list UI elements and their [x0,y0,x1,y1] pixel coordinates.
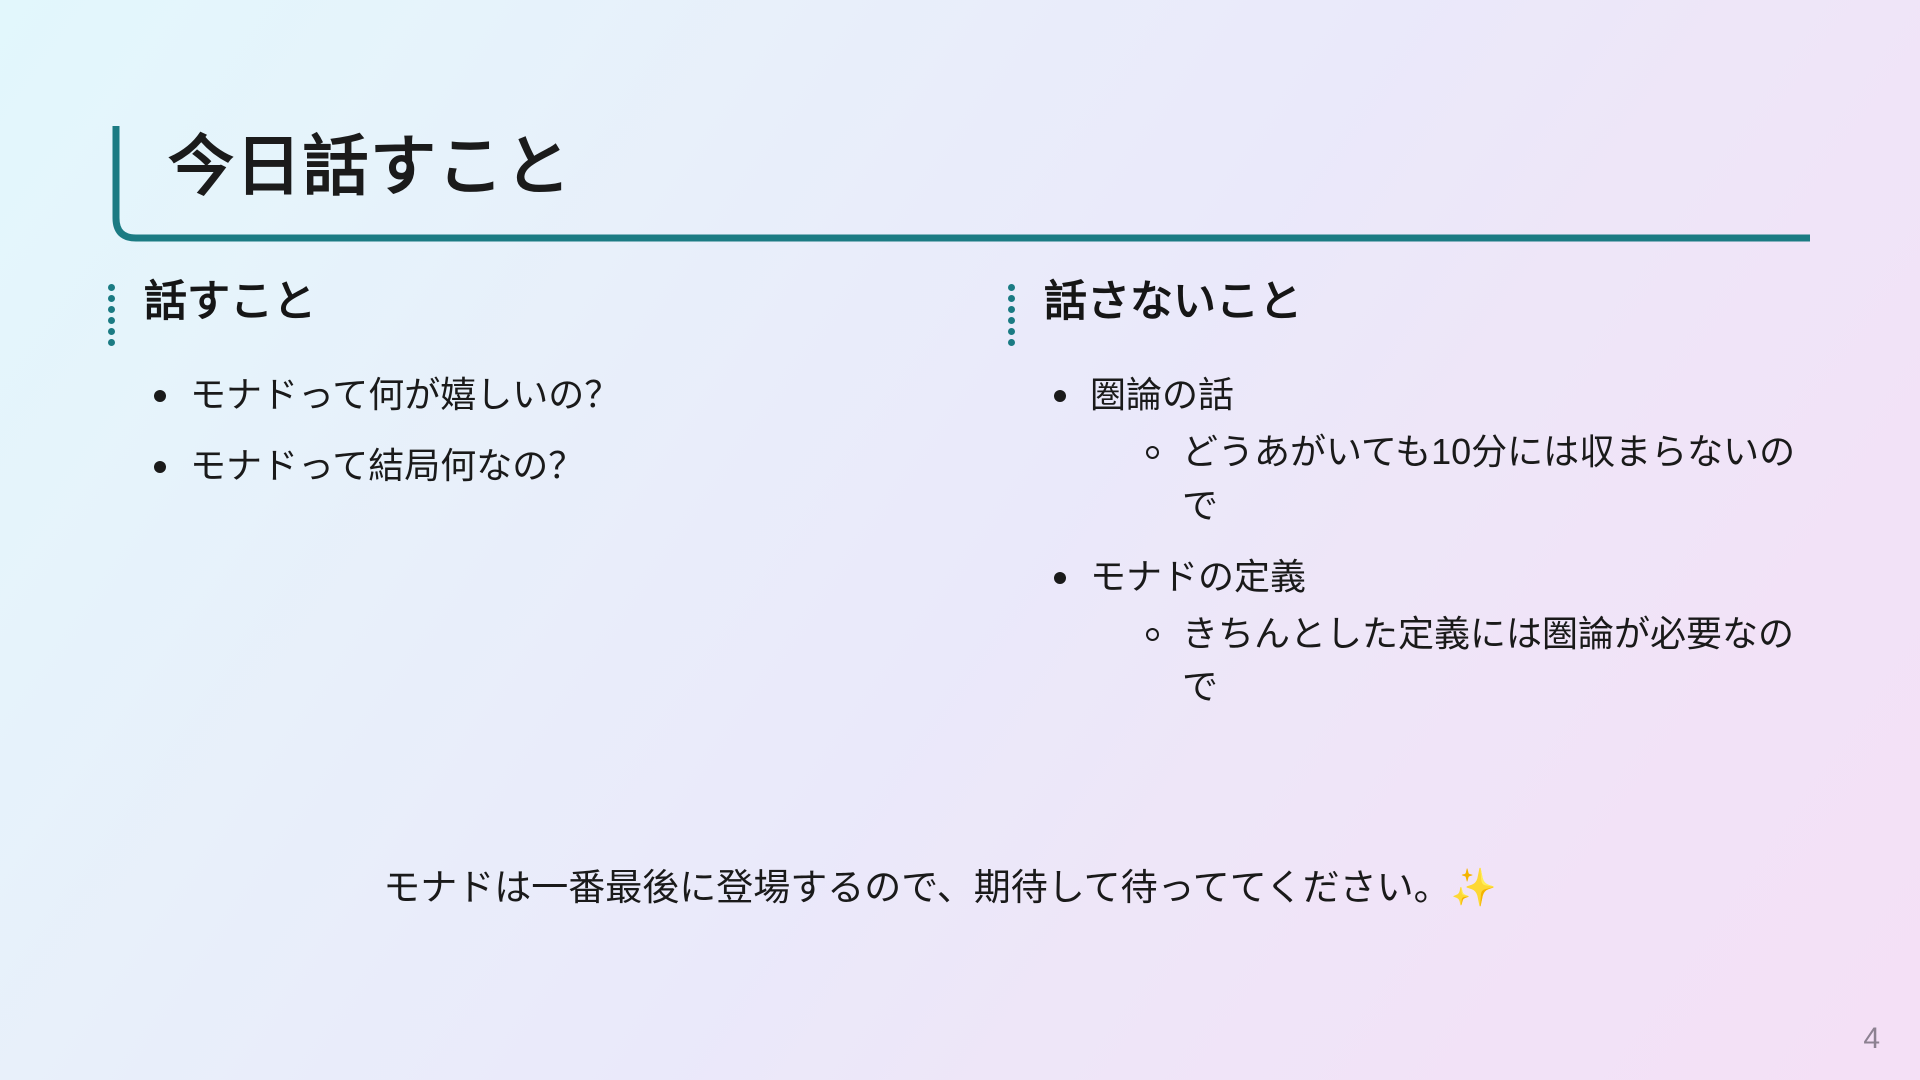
list-item-label: 圏論の話 [1090,368,1730,421]
footnote: モナドは一番最後に登場するので、期待して待っててください。✨ [0,862,1920,914]
sub-list-item-label: きちんとした定義には圏論が必要なので [1182,607,1820,714]
list-item-label: モナドの定義 [1090,550,1730,603]
list-item: モナドの定義 きちんとした定義には圏論が必要なので [1044,550,1820,714]
bullet-dot-icon [154,390,166,402]
sparkles-icon: ✨ [1451,867,1497,908]
column-heading: 話さないこと [1044,278,1302,327]
sub-list-item: どうあがいても10分には収まらないので [1136,425,1820,532]
dotted-marker-icon [1008,284,1018,346]
column-header: 話さないこと [1008,278,1820,350]
dotted-marker-icon [108,284,118,346]
list-item: モナドって結局何なの？ [144,439,900,492]
column-header: 話すこと [108,278,900,350]
slide-title-block: 今日話すこと [110,120,1810,245]
sub-list-item-label: どうあがいても10分には収まらないので [1182,425,1820,532]
column-heading: 話すこと [144,278,316,327]
list-item-label: モナドって結局何なの？ [190,439,830,492]
sub-bullet-list: どうあがいても10分には収まらないので [1090,425,1820,532]
list-item: 圏論の話 どうあがいても10分には収まらないので [1044,368,1820,532]
hollow-bullet-dot-icon [1146,628,1159,641]
bullet-dot-icon [1054,390,1066,402]
bullet-list: 圏論の話 どうあがいても10分には収まらないので モナドの定義 [1008,368,1820,714]
hollow-bullet-dot-icon [1146,446,1159,459]
column-not-talk-about: 話さないこと 圏論の話 どうあがいても10分には収まらないので モナドの定義 [900,278,1820,838]
slide-canvas: 今日話すこと 話すこと モナドって何が嬉しいの？ モナドって結局何なの？ [0,0,1920,1080]
footnote-text: モナドは一番最後に登場するので、期待して待っててください。 [383,867,1450,908]
content-columns: 話すこと モナドって何が嬉しいの？ モナドって結局何なの？ 話さないこと [0,278,1920,838]
sub-bullet-list: きちんとした定義には圏論が必要なので [1090,607,1820,714]
page-number: 4 [1863,1022,1880,1056]
list-item-label: モナドって何が嬉しいの？ [190,368,830,421]
page-title: 今日話すこと [168,132,572,201]
bullet-dot-icon [1054,572,1066,584]
list-item: モナドって何が嬉しいの？ [144,368,900,421]
sub-list-item: きちんとした定義には圏論が必要なので [1136,607,1820,714]
bullet-list: モナドって何が嬉しいの？ モナドって結局何なの？ [108,368,900,493]
bullet-dot-icon [154,461,166,473]
column-talk-about: 話すこと モナドって何が嬉しいの？ モナドって結局何なの？ [0,278,900,838]
